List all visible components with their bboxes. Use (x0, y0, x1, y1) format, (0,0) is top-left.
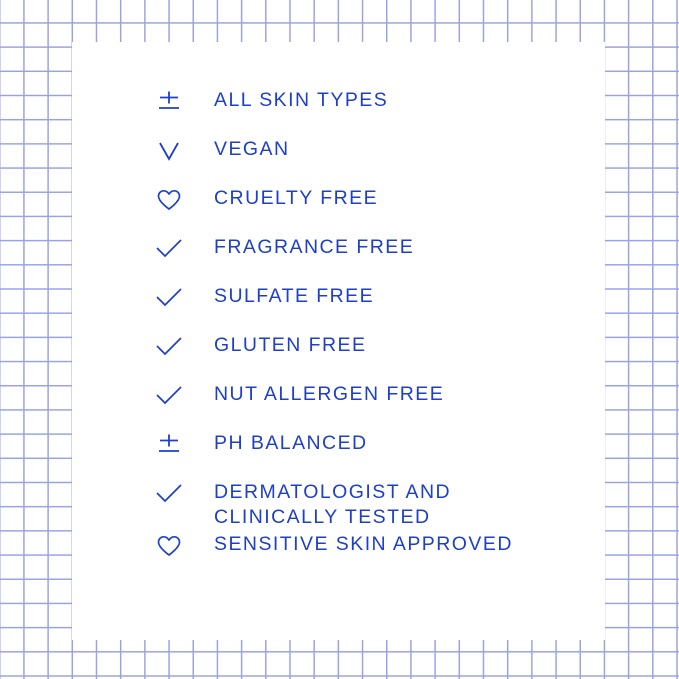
list-item-label: GLUTEN FREE (214, 331, 592, 358)
plus-minus-icon (152, 87, 186, 117)
checkmark-icon (152, 234, 186, 264)
vegan-v-icon (152, 136, 186, 166)
list-item: FRAGRANCE FREE (152, 233, 592, 282)
benefits-list: ALL SKIN TYPES VEGAN CRUELTY FREE (152, 86, 592, 579)
checkmark-icon (152, 332, 186, 362)
list-item: NUT ALLERGEN FREE (152, 380, 592, 429)
list-item: ALL SKIN TYPES (152, 86, 592, 135)
list-item-label: SENSITIVE SKIN APPROVED (214, 530, 592, 557)
list-item-label: SULFATE FREE (214, 282, 592, 309)
list-item-label: PH BALANCED (214, 429, 592, 456)
list-item: SULFATE FREE (152, 282, 592, 331)
checkmark-icon (152, 381, 186, 411)
list-item-label: NUT ALLERGEN FREE (214, 380, 592, 407)
heart-icon (152, 531, 186, 561)
list-item-label: ALL SKIN TYPES (214, 86, 592, 113)
list-item: VEGAN (152, 135, 592, 184)
benefits-card: ALL SKIN TYPES VEGAN CRUELTY FREE (72, 42, 605, 640)
list-item: PH BALANCED (152, 429, 592, 478)
product-benefits-graphic: ALL SKIN TYPES VEGAN CRUELTY FREE (0, 0, 679, 679)
list-item-label: DERMATOLOGIST AND CLINICALLY TESTED (214, 478, 592, 530)
plus-minus-icon (152, 430, 186, 460)
list-item: SENSITIVE SKIN APPROVED (152, 530, 592, 579)
checkmark-icon (152, 283, 186, 313)
checkmark-icon (152, 479, 186, 509)
heart-icon (152, 185, 186, 215)
list-item-label: VEGAN (214, 135, 592, 162)
list-item-label: FRAGRANCE FREE (214, 233, 592, 260)
list-item: CRUELTY FREE (152, 184, 592, 233)
list-item: DERMATOLOGIST AND CLINICALLY TESTED (152, 478, 592, 530)
list-item-label: CRUELTY FREE (214, 184, 592, 211)
list-item: GLUTEN FREE (152, 331, 592, 380)
